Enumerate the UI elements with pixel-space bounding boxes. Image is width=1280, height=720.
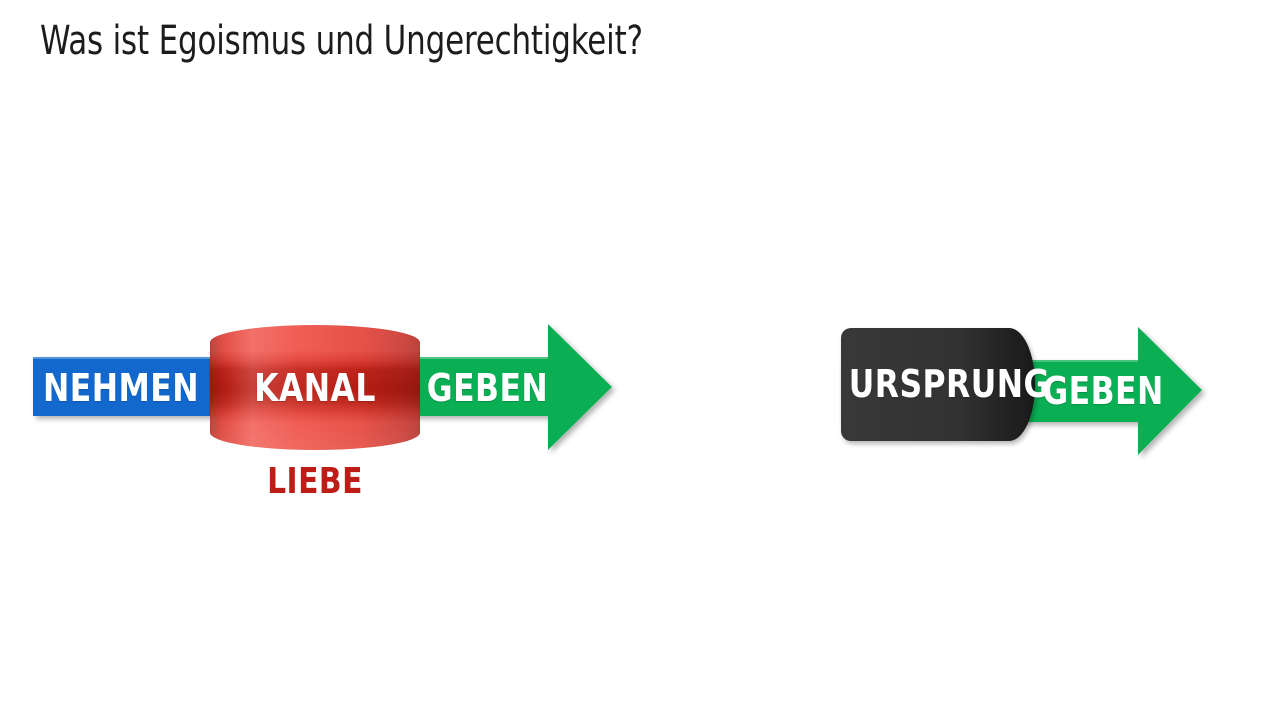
diagram-selfishness-flow: NEHMEN KANAL GEBEN LIEBE: [0, 0, 660, 520]
label-geben-right: GEBEN: [1042, 372, 1143, 410]
flow-arrow-right-shape: [810, 0, 1250, 520]
label-geben-left: GEBEN: [425, 369, 549, 407]
diagram-origin-flow: URSPRUNG GEBEN: [810, 0, 1250, 520]
caption-liebe: LIEBE: [218, 464, 411, 500]
label-ursprung: URSPRUNG: [849, 365, 1027, 403]
label-kanal: KANAL: [218, 369, 411, 407]
label-nehmen: NEHMEN: [40, 369, 202, 407]
